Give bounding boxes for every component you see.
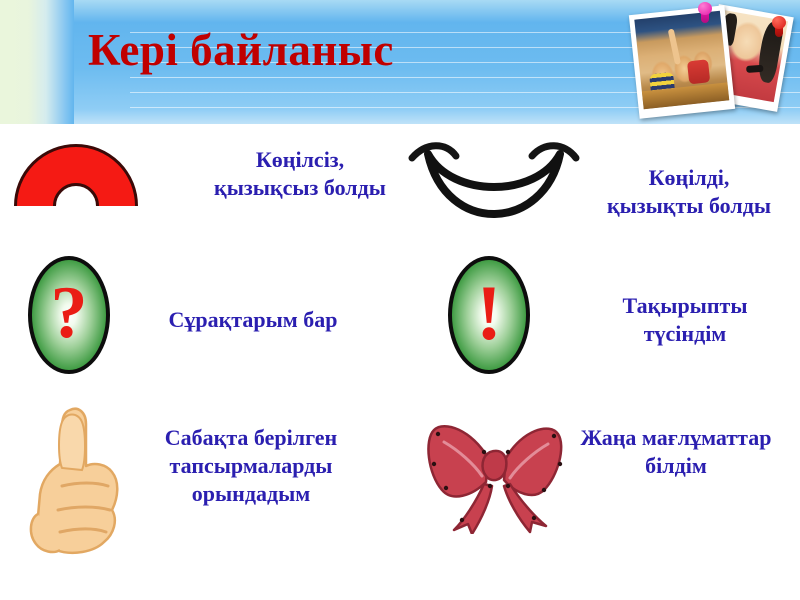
question-mark-glyph: ? <box>51 276 88 350</box>
thumbs-up-svg <box>26 402 130 562</box>
caption-sad-boring: Көңілсіз, қызықсыз болды <box>180 146 420 202</box>
caption-happy-interesting: Көңілді, қызықты болды <box>578 164 800 220</box>
pushpin-head <box>772 16 786 29</box>
frown-mouth-outer-arc <box>14 144 138 268</box>
exclamation-mark-oval-icon: ! <box>448 256 530 374</box>
pushpin-icon <box>772 16 786 38</box>
header-left-gradient <box>0 0 74 124</box>
photo-detail <box>668 28 681 64</box>
page-title: Кері байланыс <box>88 22 394 78</box>
frown-mouth-icon <box>14 144 138 208</box>
caption-understood-topic: Тақырыпты түсіндім <box>570 292 800 348</box>
exclamation-mark-glyph: ! <box>476 274 502 352</box>
caption-completed-tasks: Сабақта берілген тапсырмаларды орындадым <box>118 424 384 508</box>
pushpin-head <box>698 2 712 15</box>
classroom-children-photo-image <box>634 11 729 109</box>
smile-mouth-icon <box>404 136 584 246</box>
frown-mouth-inner-arc <box>53 183 99 229</box>
smile-mouth-svg <box>404 136 584 246</box>
pushpin-icon <box>698 2 712 24</box>
feedback-content: Көңілсіз, қызықсыз болды Көңілді, қызықт… <box>0 124 800 600</box>
question-mark-oval-icon: ? <box>28 256 110 374</box>
photo-cluster <box>624 2 794 124</box>
thumbs-up-icon <box>26 402 130 562</box>
caption-i-have-questions: Сұрақтарым бар <box>128 306 378 334</box>
ribbon-bow-icon <box>424 412 570 534</box>
ribbon-bow-svg <box>424 412 570 534</box>
photo-detail <box>687 59 710 84</box>
caption-learned-new-information: Жаңа мағлұматтар білдім <box>552 424 800 480</box>
classroom-children-photo <box>629 5 735 118</box>
header-banner: Кері байланыс <box>0 0 800 124</box>
